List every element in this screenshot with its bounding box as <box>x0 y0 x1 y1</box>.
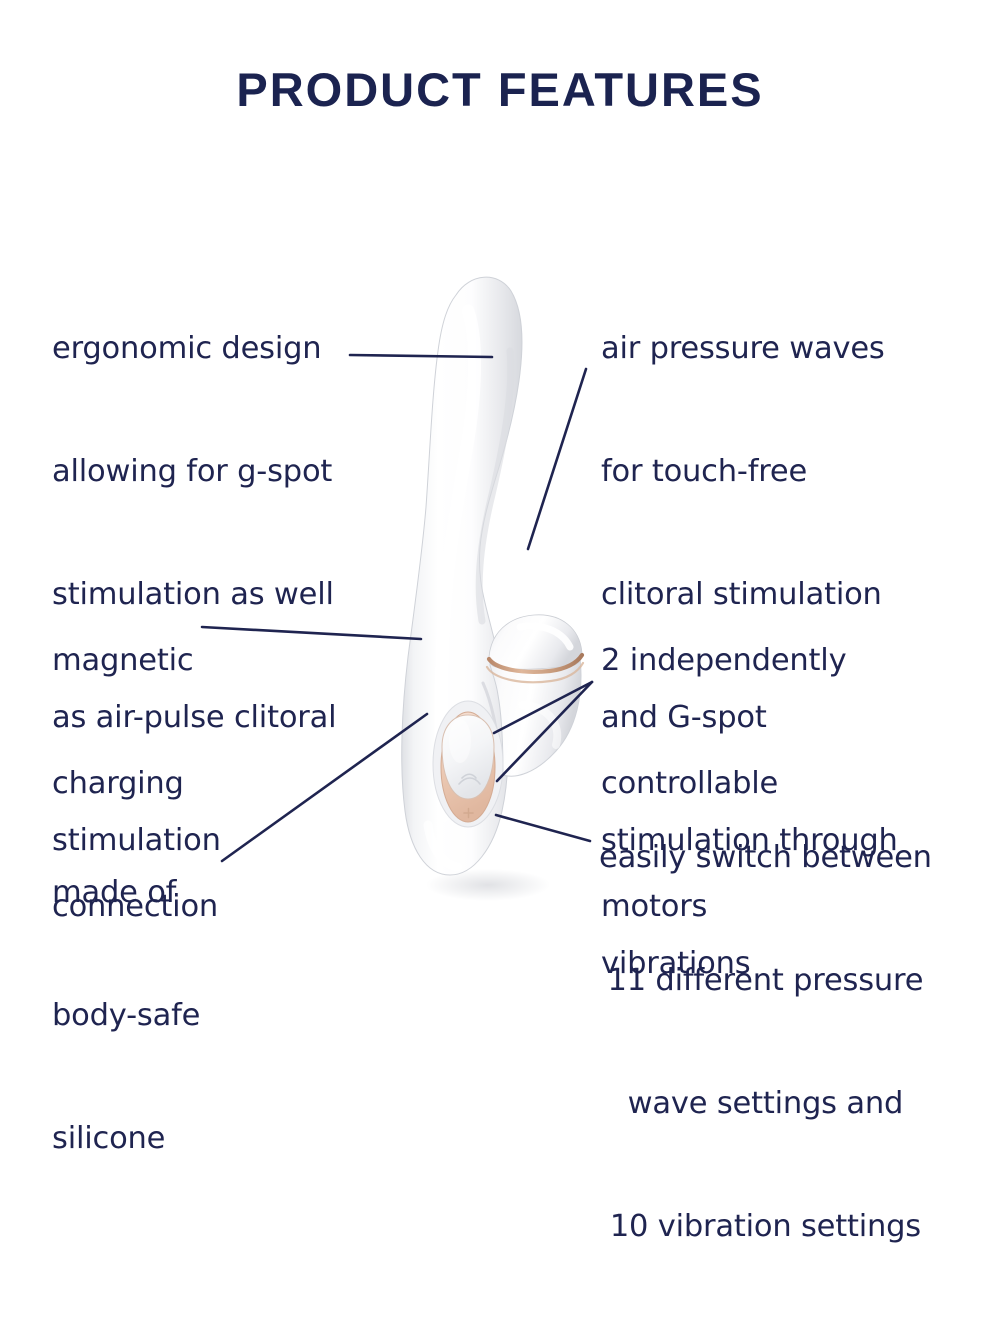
callout-line: allowing for g-spot <box>52 451 336 492</box>
callout-line: air pressure waves <box>601 328 898 369</box>
callout-line: wave settings and <box>599 1083 932 1124</box>
callout-line: easily switch between <box>599 837 932 878</box>
page-title: PRODUCT FEATURES <box>0 62 1000 117</box>
callout-line: body-safe <box>52 995 200 1036</box>
callout-pressure-vibration-settings: easily switch between 11 different press… <box>599 755 932 1329</box>
callout-line: ergonomic design <box>52 328 336 369</box>
callout-body-safe-silicone: made of body-safe silicone <box>52 790 200 1241</box>
callout-line: 2 independently <box>601 640 846 681</box>
callout-line: for touch-free <box>601 451 898 492</box>
callout-line: silicone <box>52 1118 200 1159</box>
product-illustration-svg <box>370 255 620 905</box>
callout-line: 11 different pressure <box>599 960 932 1001</box>
callout-line: made of <box>52 872 200 913</box>
product-image <box>370 255 620 905</box>
panel-gloss <box>449 719 471 763</box>
callout-line: 10 vibration settings <box>599 1206 932 1247</box>
infographic-canvas: PRODUCT FEATURES <box>0 0 1000 1000</box>
callout-line: magnetic <box>52 640 218 681</box>
